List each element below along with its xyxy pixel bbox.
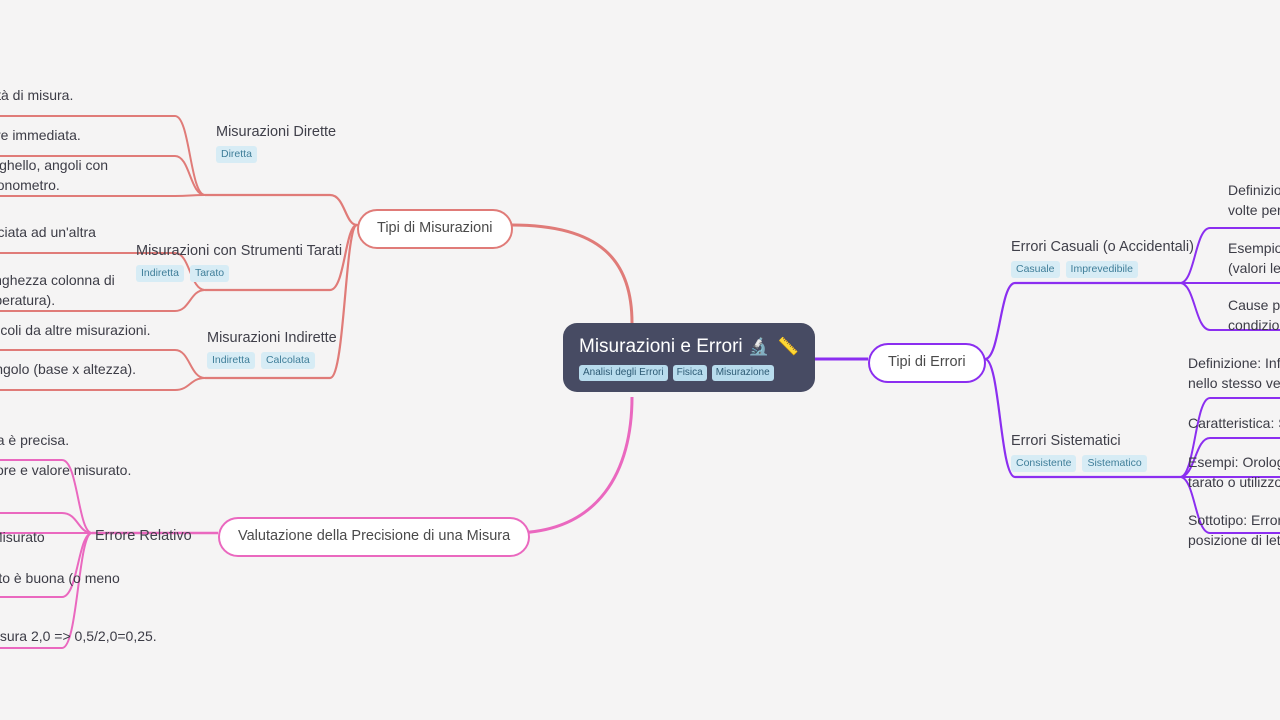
subnode-errori-sistematici[interactable]: Errori Sistematici Consistente Sistemati…	[1011, 432, 1147, 472]
leaf-text: Cause principali: Imprecisioni dello str…	[1228, 295, 1280, 335]
leaf-text: Caratteristica: Sono costanti e ripetibi…	[1188, 413, 1280, 433]
subnode-title: Errori Sistematici	[1011, 432, 1147, 451]
root-node[interactable]: Misurazioni e Errori 🔬 📏 Analisi degli E…	[563, 323, 815, 392]
subnode-tags: Indiretta Calcolata	[207, 352, 337, 369]
subnode-tag: Consistente	[1011, 455, 1076, 472]
root-node-title: Misurazioni e Errori 🔬 📏	[579, 335, 799, 358]
branch-label: Tipi di Misurazioni	[377, 220, 493, 236]
leaf-text: Esempio: Termometro (lunghezza colonna d…	[0, 270, 158, 310]
leaf-text: Più è piccolo, più la misura è precisa.	[0, 430, 158, 450]
subnode-tag: Tarato	[190, 265, 229, 282]
subnode-title: Errori Casuali (o Accidentali)	[1011, 238, 1194, 257]
root-title-text: Misurazioni e Errori	[579, 336, 743, 357]
subnode-tag: Imprevedibile	[1066, 261, 1138, 278]
subnode-tag: Indiretta	[207, 352, 255, 369]
subnode-title: Misurazioni Dirette	[216, 123, 336, 142]
leaf-text: Grandezza misurata associata ad un'altra…	[0, 222, 158, 262]
subnode-misurazioni-indirette[interactable]: Misurazioni Indirette Indiretta Calcolat…	[207, 329, 337, 369]
microscope-ruler-icon: 🔬 📏	[748, 337, 801, 356]
subnode-tags: Indiretta Tarato	[136, 265, 342, 282]
subnode-title: Errore Relativo	[95, 527, 192, 546]
root-tag: Misurazione	[712, 365, 774, 381]
subnode-tags: Diretta	[216, 146, 336, 163]
root-node-tags: Analisi degli Errori Fisica Misurazione	[579, 365, 799, 381]
subnode-tags: Consistente Sistematico	[1011, 455, 1147, 472]
subnode-title: Misurazioni con Strumenti Tarati	[136, 242, 342, 261]
leaf-text: Valore ottenuto tramite calcoli da altre…	[0, 320, 158, 340]
mindmap-canvas: Misurazioni e Errori 🔬 📏 Analisi degli E…	[0, 0, 1280, 720]
leaf-text: Esempi: Orologio che ritarda, strumento …	[1188, 452, 1280, 492]
leaf-text: Esempio: Errore 0,5 su misura 2,0 => 0,5…	[0, 626, 158, 646]
subnode-tag: Calcolata	[261, 352, 315, 369]
branch-label: Tipi di Errori	[888, 354, 966, 370]
subnode-errore-relativo[interactable]: Errore Relativo	[95, 527, 192, 546]
subnode-misurazioni-dirette[interactable]: Misurazioni Dirette Diretta	[216, 123, 336, 163]
subnode-tag: Sistematico	[1082, 455, 1146, 472]
subnode-tag: Casuale	[1011, 261, 1060, 278]
branch-node-tipi-di-errori[interactable]: Tipi di Errori	[868, 343, 986, 383]
leaf-text: Esempio: Misure ripetute di una lunghezz…	[1228, 238, 1280, 278]
root-tag: Analisi degli Errori	[579, 365, 668, 381]
leaf-text: Definizione: Variano se la misura è ripe…	[1228, 180, 1280, 220]
subnode-tag: Indiretta	[136, 265, 184, 282]
subnode-tags: Casuale Imprevedibile	[1011, 261, 1194, 278]
root-tag: Fisica	[673, 365, 707, 381]
subnode-tag: Diretta	[216, 146, 257, 163]
leaf-text: Sottotipo: Errori di parallasse (dovuti …	[1188, 510, 1280, 550]
leaf-text: Formula: Rapporto tra errore e valore mi…	[0, 460, 158, 480]
branch-label: Valutazione della Precisione di una Misu…	[238, 528, 510, 544]
leaf-text: Esempi: Lunghezza con righello, angoli c…	[0, 155, 158, 195]
branch-node-tipi-di-misurazioni[interactable]: Tipi di Misurazioni	[357, 209, 513, 249]
leaf-text: Risultato: Lettura del valore immediata.	[0, 125, 158, 145]
leaf-text: Definizione: Influiscono sulla misura se…	[1188, 353, 1280, 393]
branch-node-valutazione-precisione[interactable]: Valutazione della Precisione di una Misu…	[218, 517, 530, 557]
leaf-text: Confronto diretto con l'unità di misura.	[0, 85, 158, 105]
subnode-strumenti-tarati[interactable]: Misurazioni con Strumenti Tarati Indiret…	[136, 242, 342, 282]
leaf-text: Esempio: Area di un rettangolo (base x a…	[0, 359, 158, 379]
leaf-text: Permette di valutare quanto è buona (o m…	[0, 568, 158, 608]
subnode-title: Misurazioni Indirette	[207, 329, 337, 348]
subnode-errori-casuali[interactable]: Errori Casuali (o Accidentali) Casuale I…	[1011, 238, 1194, 278]
